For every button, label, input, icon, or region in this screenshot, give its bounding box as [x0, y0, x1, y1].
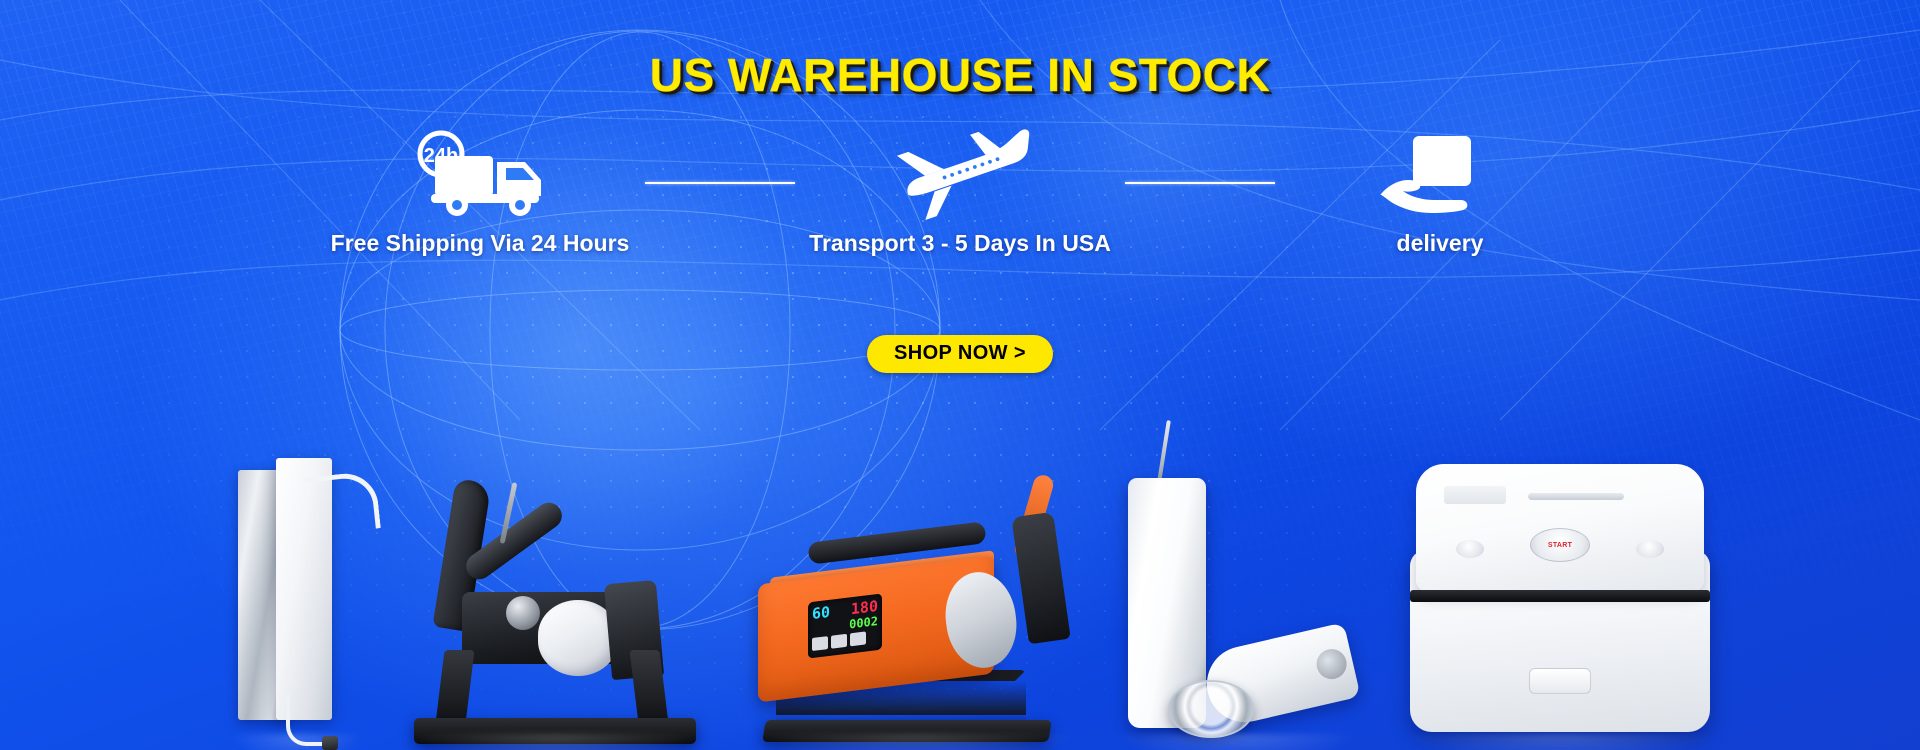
product-showcase: 60 180 0002 — [0, 320, 1920, 750]
press-button-menu[interactable] — [812, 636, 828, 651]
airplane-icon — [885, 118, 1035, 222]
product-sublimation-tumblers — [1110, 420, 1360, 750]
feature-delivery: delivery — [1275, 118, 1605, 257]
tumbler-straw — [1157, 420, 1171, 482]
feature-connector-line — [1125, 182, 1275, 184]
cooker-start-button[interactable]: START — [1530, 528, 1590, 562]
feature-connector-line — [645, 182, 795, 184]
press-button-down[interactable] — [831, 634, 847, 649]
display-counter: 0002 — [849, 615, 878, 631]
tumbler-lid — [1168, 680, 1254, 738]
product-black-mug-heat-press — [410, 450, 700, 750]
press-button-up[interactable] — [850, 631, 866, 646]
delivery-truck-24h-icon: 24h — [405, 118, 555, 222]
page-title: US WAREHOUSE IN STOCK — [0, 48, 1920, 102]
feature-strip: 24h Free Shipping Via 24 Hours — [0, 118, 1920, 257]
hand-holding-box-icon — [1365, 118, 1515, 222]
promo-banner: US WAREHOUSE IN STOCK 24h Free Shipping … — [0, 0, 1920, 750]
cooker-right-knob[interactable] — [1636, 540, 1664, 558]
feature-label: Free Shipping Via 24 Hours — [331, 230, 630, 257]
feature-free-shipping: 24h Free Shipping Via 24 Hours — [315, 118, 645, 257]
product-white-rice-cooker: START — [1400, 420, 1720, 750]
feature-transport-time: Transport 3 - 5 Days In USA — [795, 118, 1125, 257]
svg-text:24h: 24h — [424, 145, 458, 167]
cooker-left-knob[interactable] — [1456, 540, 1484, 558]
press-control-display: 60 180 0002 — [808, 593, 882, 658]
feature-label: Transport 3 - 5 Days In USA — [809, 230, 1111, 257]
feature-label: delivery — [1397, 230, 1484, 257]
product-heat-press-platen — [230, 460, 365, 750]
product-orange-mug-heat-press: 60 180 0002 — [750, 450, 1080, 750]
display-temperature: 60 — [812, 605, 830, 622]
cooker-warning-sticker — [1444, 486, 1506, 504]
cooker-steam-vent — [1528, 493, 1624, 500]
cooker-lid-latch[interactable] — [1529, 668, 1591, 694]
